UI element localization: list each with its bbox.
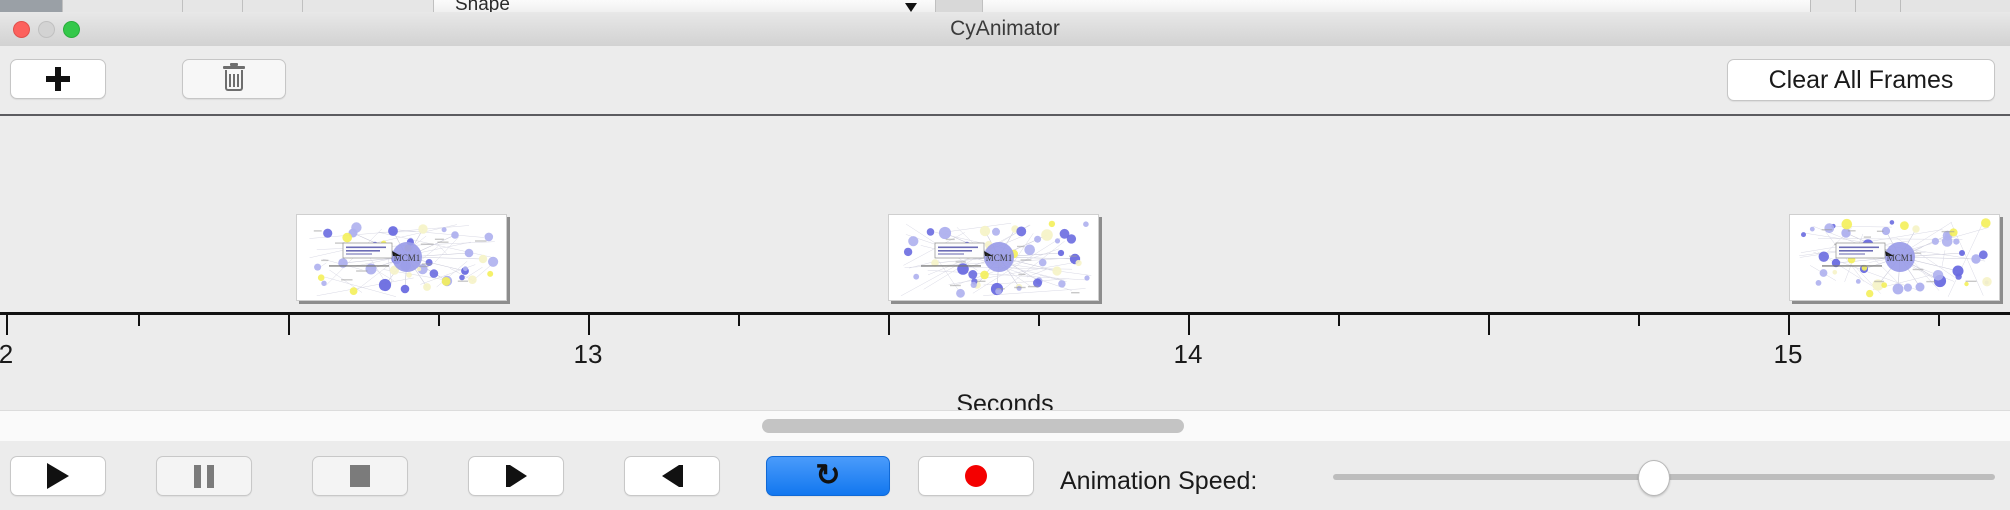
timeline-tick-label: 14: [1174, 339, 1203, 370]
timeline-tick: [738, 315, 740, 326]
loop-button[interactable]: ↻: [766, 456, 890, 496]
stop-button[interactable]: [312, 456, 408, 496]
stop-icon: [350, 465, 370, 487]
timeline-tick: [6, 315, 8, 335]
bg-tab-8: [1900, 0, 2010, 12]
animation-speed-slider[interactable]: [1333, 474, 1995, 480]
timeline-scrollbar-thumb[interactable]: [762, 419, 1184, 433]
skip-forward-icon: [662, 465, 683, 487]
timeline-tick: [1488, 315, 1490, 335]
record-button[interactable]: [918, 456, 1034, 496]
bg-tab-7: [1855, 0, 1900, 12]
timeline-tick: [1638, 315, 1640, 326]
trash-icon: [223, 66, 245, 92]
clear-all-frames-button[interactable]: Clear All Frames: [1727, 59, 1995, 101]
timeline-tick: [438, 315, 440, 326]
bg-tab-3: [242, 0, 304, 12]
bg-tab-selected: [0, 0, 62, 12]
timeline-tick: [288, 315, 290, 335]
delete-frame-button[interactable]: [182, 59, 286, 99]
svg-text:MCM1: MCM1: [394, 253, 421, 263]
timeline-tick: [1938, 315, 1940, 326]
timeline-axis-title: Seconds: [0, 390, 2010, 410]
timeline-tick-label: 13: [574, 339, 603, 370]
timeline-frame-thumbnail[interactable]: MCM1: [1789, 214, 2000, 301]
plus-icon: [46, 67, 70, 91]
clear-all-frames-label: Clear All Frames: [1769, 66, 1954, 95]
timeline-tick: [1788, 315, 1790, 335]
pause-button[interactable]: [156, 456, 252, 496]
play-button[interactable]: [10, 456, 106, 496]
bg-tab-5: [935, 0, 983, 12]
timeline-frame-thumbnail[interactable]: MCM1: [296, 214, 507, 301]
title-bar: CyAnimator: [0, 12, 2010, 47]
timeline-tick-label: 15: [1774, 339, 1803, 370]
playback-controls: ↻ Animation Speed:: [0, 441, 2010, 510]
timeline-tick: [1338, 315, 1340, 326]
timeline-panel[interactable]: MCM1 MCM1 MCM1 2131415 Seconds: [0, 116, 2010, 410]
timeline-tick: [888, 315, 890, 335]
frame-toolbar: Clear All Frames: [0, 46, 2010, 116]
window-title: CyAnimator: [0, 12, 2010, 46]
cyanimator-window: Shape CyAnimator Clear All Frames: [0, 0, 2010, 510]
skip-back-icon: [506, 465, 527, 487]
timeline-tick: [588, 315, 590, 335]
timeline-scrollbar[interactable]: [0, 410, 2010, 442]
svg-text:MCM1: MCM1: [986, 253, 1013, 263]
bg-tab-2: [182, 0, 244, 12]
record-icon: [965, 465, 987, 487]
add-frame-button[interactable]: [10, 59, 106, 99]
timeline-tick: [1038, 315, 1040, 326]
bg-tab-4: [302, 0, 434, 12]
pause-icon: [194, 465, 214, 488]
timeline-frame-thumbnail[interactable]: MCM1: [888, 214, 1099, 301]
bg-caret-icon: [905, 3, 917, 12]
loop-icon: ↻: [815, 461, 840, 491]
skip-to-end-button[interactable]: [624, 456, 720, 496]
timeline-tick-label: 2: [0, 339, 13, 370]
bg-tab-6: [1810, 0, 1855, 12]
play-icon: [47, 463, 69, 489]
timeline-tick: [138, 315, 140, 326]
svg-text:MCM1: MCM1: [1887, 253, 1914, 263]
skip-to-start-button[interactable]: [468, 456, 564, 496]
bg-tab-1: [62, 0, 184, 12]
timeline-tick: [1188, 315, 1190, 335]
animation-speed-label: Animation Speed:: [1060, 467, 1257, 496]
slider-knob[interactable]: [1638, 460, 1670, 496]
timeline-axis-line: [0, 312, 2010, 315]
